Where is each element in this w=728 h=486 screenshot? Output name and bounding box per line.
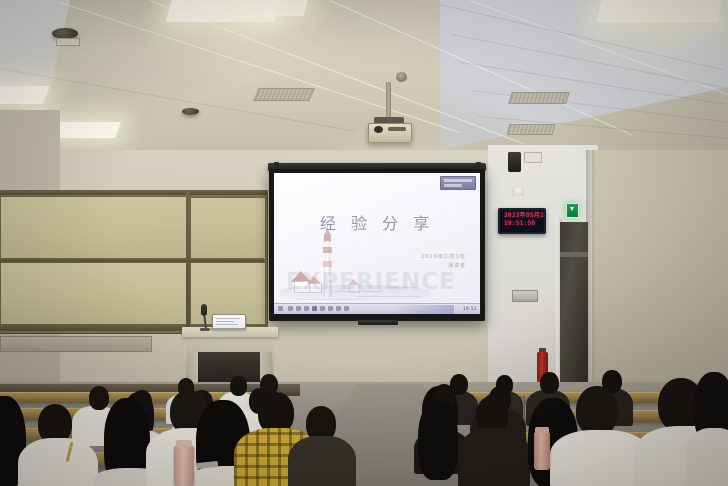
emergency-exit-icon xyxy=(566,203,579,218)
slide-title: 经 验 分 享 xyxy=(274,210,480,234)
ceiling-vent-2 xyxy=(508,92,570,104)
bottle-cap xyxy=(176,440,192,447)
taskbar-clock: 19:51 xyxy=(463,306,477,311)
exit-doorway[interactable] xyxy=(560,222,588,382)
slide-subtitle-line1: 2019级口腔1班 xyxy=(421,253,466,262)
clock-time: 19:51:50 xyxy=(504,220,544,228)
ceiling-vent-3 xyxy=(507,124,556,135)
lecture-hall-photo: EXPERIENCE 经 验 分 享 2019级口腔1班 演讲者 19:51 xyxy=(0,0,728,486)
blackboard-rail-top xyxy=(0,190,268,195)
blackboard-panel-top-right[interactable] xyxy=(190,197,266,260)
light-panel-2 xyxy=(597,0,723,22)
light-panel-3 xyxy=(0,86,50,104)
ceiling-fixture-1 xyxy=(56,38,80,46)
slide-subtitle-line2: 演讲者 xyxy=(421,262,466,271)
left-wall-notice-board xyxy=(0,336,152,352)
light-panel-5 xyxy=(249,0,308,16)
ceiling-vent-1 xyxy=(253,88,315,101)
led-wall-clock: 2023年05月25日 19:51:50 xyxy=(498,208,546,234)
door-transom xyxy=(560,252,588,257)
wall-speaker xyxy=(508,152,521,172)
water-bottle xyxy=(534,432,550,470)
blackboard-panel-top-left[interactable] xyxy=(0,196,188,260)
slide-taskbar[interactable]: 19:51 xyxy=(274,303,480,314)
blackboard-divider xyxy=(186,192,190,332)
clock-date: 2023年05月25日 xyxy=(504,212,544,220)
smoke-detector-2 xyxy=(182,108,199,115)
podium-front-panel xyxy=(196,352,262,385)
water-bottle xyxy=(174,446,194,486)
wall-access-panel xyxy=(524,152,542,163)
projector-screen[interactable]: EXPERIENCE 经 验 分 享 2019级口腔1班 演讲者 19:51 xyxy=(274,173,480,314)
wall-vent xyxy=(512,290,538,302)
projector-lens xyxy=(374,126,383,133)
projector-pole xyxy=(386,82,391,118)
bottle-cap xyxy=(535,427,549,433)
projector-vent xyxy=(388,127,406,131)
ceiling-speaker xyxy=(396,72,407,82)
wall-lamp xyxy=(512,186,524,196)
blackboard-panel-bottom-left[interactable] xyxy=(0,262,188,326)
screen-bottom-bar xyxy=(358,320,398,325)
blackboard-rail-mid xyxy=(0,258,264,262)
microphone-base xyxy=(200,328,210,331)
laptop-base xyxy=(210,328,246,330)
presentation-toolbar-overlay[interactable] xyxy=(440,176,476,190)
slide-watermark: EXPERIENCE xyxy=(286,269,456,295)
right-wall-far xyxy=(592,150,728,400)
slide-subtitle: 2019级口腔1班 演讲者 xyxy=(421,253,466,271)
microphone xyxy=(201,304,207,316)
